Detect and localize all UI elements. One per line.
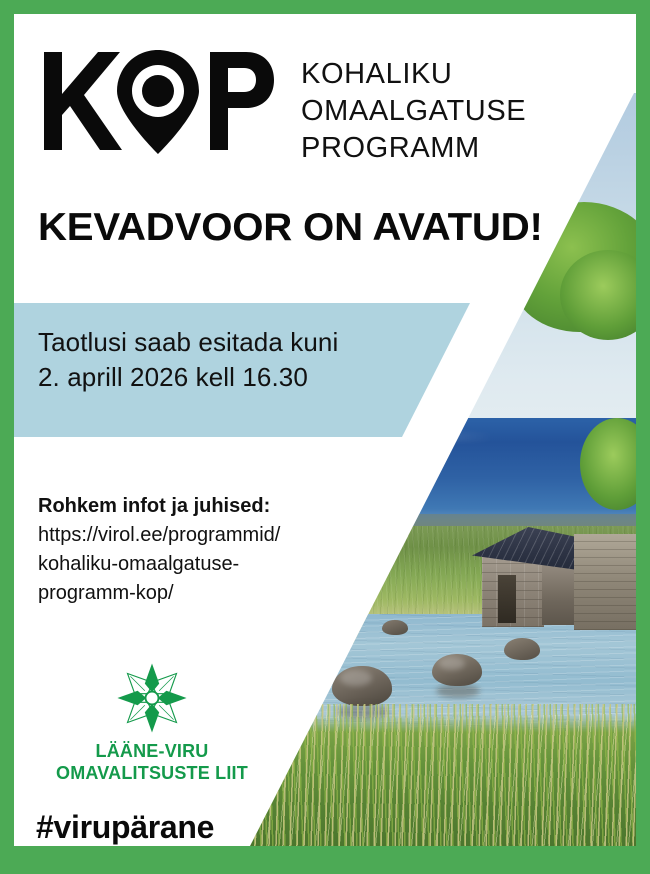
photo-stone-ruin-texture <box>574 534 636 630</box>
info-url-line-3[interactable]: programm-kop/ <box>38 579 358 608</box>
deadline-line-2: 2. aprill 2026 kell 16.30 <box>38 360 338 395</box>
photo-boulder-reflection <box>436 684 480 698</box>
kop-logo <box>40 46 276 156</box>
lvol-name-line-1: LÄÄNE-VIRU <box>38 740 266 762</box>
info-url-line-2[interactable]: kohaliku-omaalgatuse- <box>38 550 358 579</box>
eight-point-star-emblem-icon <box>113 662 191 734</box>
lvol-name-line-2: OMAVALITSUSTE LIIT <box>38 762 266 784</box>
more-info-block: Rohkem infot ja juhised: https://virol.e… <box>38 491 358 608</box>
deadline-band: Taotlusi saab esitada kuni 2. aprill 202… <box>14 303 512 437</box>
campaign-hashtag: #virupärane <box>36 809 214 846</box>
deadline-line-1: Taotlusi saab esitada kuni <box>38 325 338 360</box>
deadline-text: Taotlusi saab esitada kuni 2. aprill 202… <box>38 325 338 395</box>
photo-cottage-door <box>498 575 516 623</box>
lvol-name: LÄÄNE-VIRU OMAVALITSUSTE LIIT <box>38 740 266 784</box>
photo-boulder-small <box>504 638 540 660</box>
info-url-line-1[interactable]: https://virol.ee/programmid/ <box>38 521 358 550</box>
photo-boulder-large <box>332 666 392 706</box>
more-info-label: Rohkem infot ja juhised: <box>38 491 358 521</box>
photo-boulder-small <box>382 620 408 635</box>
page-title: KEVADVOOR ON AVATUD! <box>38 206 543 250</box>
kop-program-title: KOHALIKU OMAALGATUSE PROGRAMM <box>301 56 526 167</box>
poster-canvas: Taotlusi saab esitada kuni 2. aprill 202… <box>14 14 636 846</box>
photo-boulder-medium <box>432 654 482 686</box>
kop-logo-mark <box>40 46 276 156</box>
kop-title-line-3: PROGRAMM <box>301 130 526 167</box>
poster: Taotlusi saab esitada kuni 2. aprill 202… <box>0 0 650 874</box>
lvol-logo: LÄÄNE-VIRU OMAVALITSUSTE LIIT <box>38 662 266 784</box>
kop-title-line-1: KOHALIKU <box>301 56 526 93</box>
photo-boulder-small <box>250 628 280 646</box>
kop-title-line-2: OMAALGATUSE <box>301 93 526 130</box>
